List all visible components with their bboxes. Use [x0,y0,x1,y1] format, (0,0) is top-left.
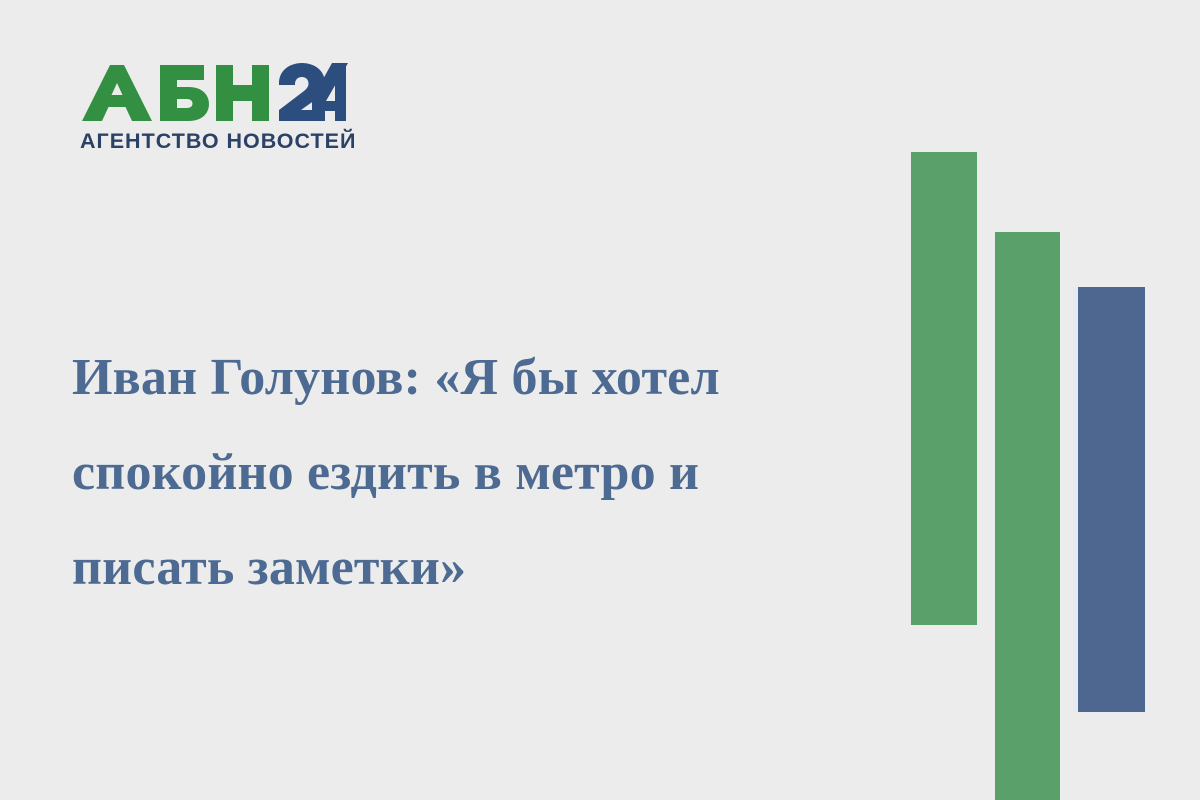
page-title: Иван Голунов: «Я бы хотел спокойно ездит… [72,330,872,615]
decorative-bar-2 [995,232,1060,800]
decorative-bar-1 [911,152,977,625]
headline-line-2: спокойно ездить в метро и [72,425,872,520]
news-share-card: АГЕНТСТВО НОВОСТЕЙ Иван Голунов: «Я бы х… [0,0,1200,800]
abn24-logo[interactable]: АГЕНТСТВО НОВОСТЕЙ [80,62,380,154]
headline-line-1: Иван Голунов: «Я бы хотел [72,330,872,425]
decorative-bar-3 [1078,287,1145,712]
abn24-wordmark-icon [80,62,348,124]
logo-subtitle: АГЕНТСТВО НОВОСТЕЙ [80,129,380,154]
headline-line-3: писать заметки» [72,520,872,615]
